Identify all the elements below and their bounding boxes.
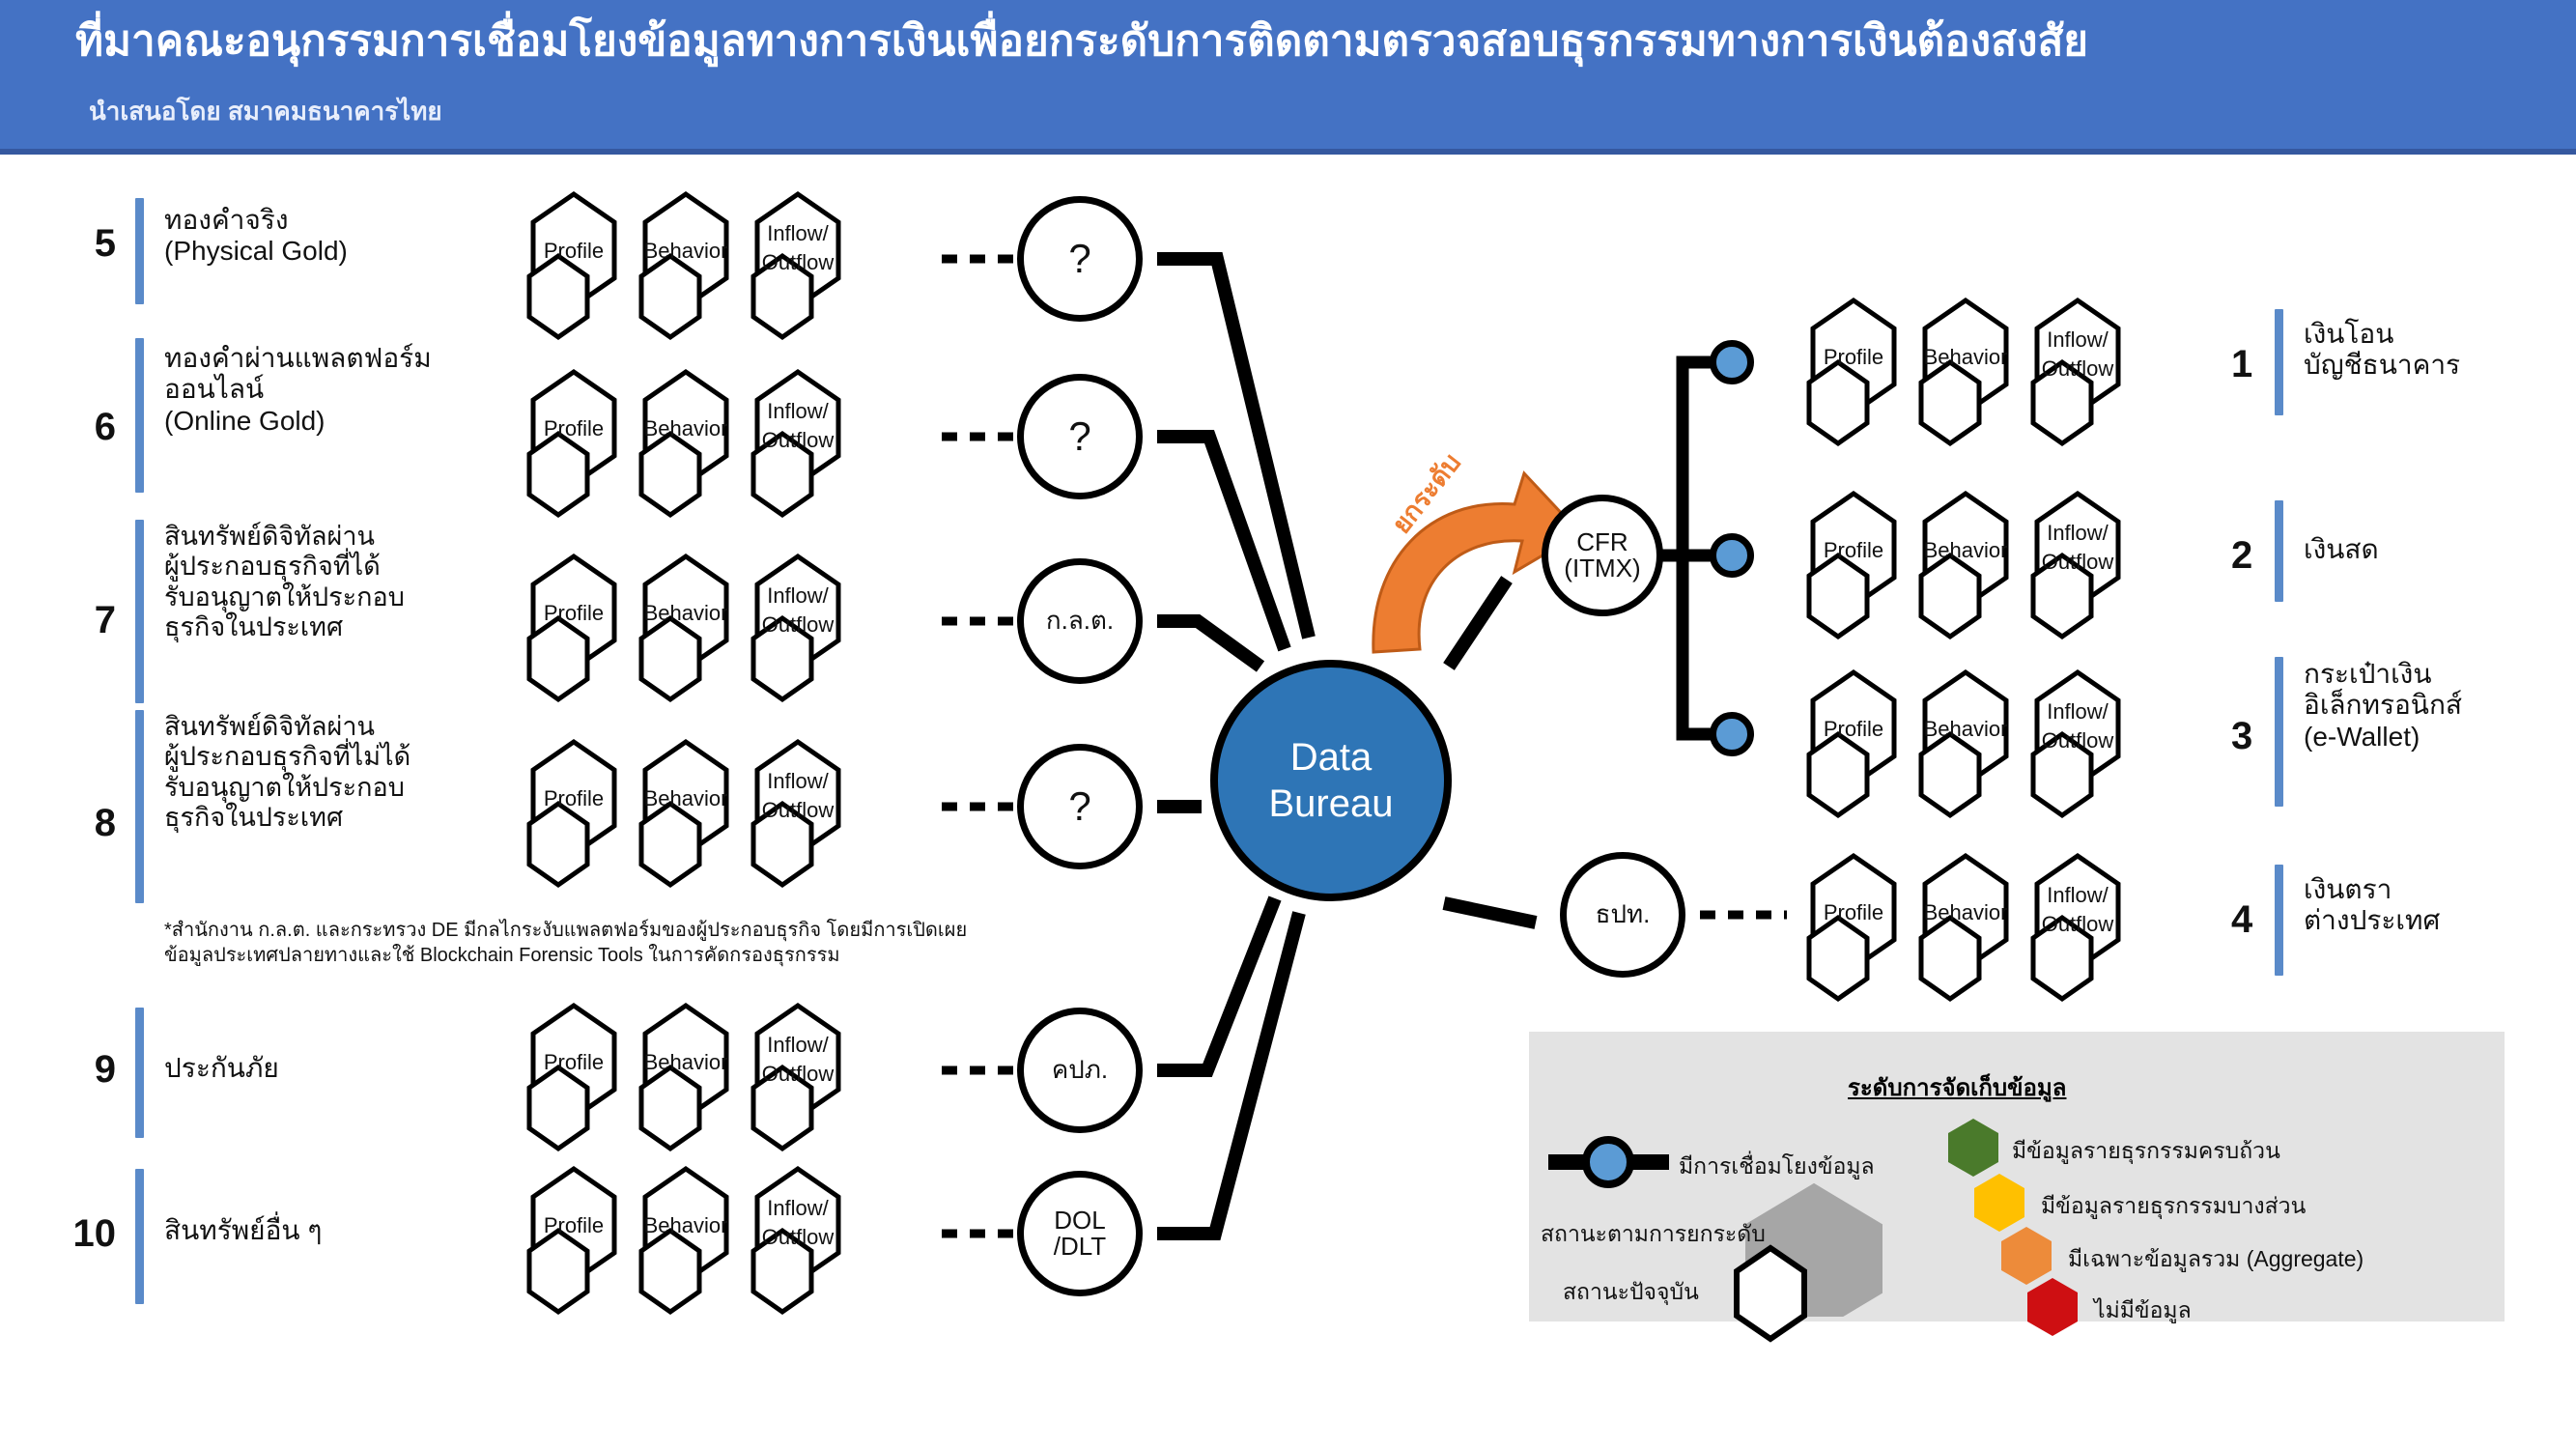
legend-current-label: สถานะปัจจุบัน bbox=[1563, 1275, 1699, 1310]
link-dot-sample-icon bbox=[1548, 1133, 1669, 1191]
left-row-accent-5 bbox=[135, 198, 144, 304]
hex-cluster-row6: Profile Behavior Inflow/ Outflow bbox=[502, 361, 947, 526]
data-bureau-label-line1: Data bbox=[1269, 734, 1394, 781]
hex-cluster-row7: Profile Behavior Inflow/ Outflow bbox=[502, 546, 947, 710]
left-row-label-5: ทองคำจริง (Physical Gold) bbox=[164, 205, 348, 268]
legend-panel: ระดับการจัดเก็บข้อมูล มีการเชื่อมโยงข้อม… bbox=[1529, 1032, 2505, 1321]
left-row-number-10: 10 bbox=[39, 1212, 116, 1256]
slide-canvas: ที่มาคณะอนุกรรมการเชื่อมโยงข้อมูลทางการเ… bbox=[0, 0, 2576, 1449]
regulator-node-row10[interactable]: DOL /DLT bbox=[1017, 1171, 1143, 1296]
footnote-line-2: ข้อมูลประเทศปลายทางและใช้ Blockchain For… bbox=[164, 943, 967, 968]
right-row-label-2: เงินสด bbox=[2304, 534, 2379, 565]
footnote-line-1: *สำนักงาน ก.ล.ต. และกระทรวง DE มีกลไกระง… bbox=[164, 918, 967, 943]
data-bureau-node[interactable]: Data Bureau bbox=[1210, 660, 1452, 901]
hex-cluster-row10: Profile Behavior Inflow/ Outflow bbox=[502, 1158, 947, 1322]
left-row-label-6: ทองคำผ่านแพลตฟอร์ม ออนไลน์ (Online Gold) bbox=[164, 343, 432, 437]
cfr-label: CFR (ITMX) bbox=[1564, 529, 1640, 582]
right-row-label-4: เงินตรา ต่างประเทศ bbox=[2304, 874, 2440, 937]
legend-level-0-icon bbox=[1944, 1117, 2002, 1179]
regulator-node-row7[interactable]: ก.ล.ต. bbox=[1017, 558, 1143, 684]
left-row-accent-9 bbox=[135, 1008, 144, 1138]
right-row-accent-3 bbox=[2275, 657, 2283, 807]
right-row-accent-4 bbox=[2275, 865, 2283, 976]
right-row-accent-1 bbox=[2275, 309, 2283, 415]
hex-cluster-row8: Profile Behavior Inflow/ Outflow bbox=[502, 731, 947, 895]
bot-node[interactable]: ธปท. bbox=[1560, 852, 1685, 978]
right-row-number-1: 1 bbox=[2231, 343, 2252, 386]
hex-cluster-row5: Profile Behavior Inflow/ Outflow bbox=[502, 184, 947, 348]
page-subtitle: นำเสนอโดย สมาคมธนาคารไทย bbox=[89, 92, 442, 131]
regulator-node-row9[interactable]: คปภ. bbox=[1017, 1008, 1143, 1133]
regulator-node-row8[interactable]: ? bbox=[1017, 744, 1143, 869]
legend-current-hex-icon bbox=[1679, 1242, 1872, 1344]
slide-header: ที่มาคณะอนุกรรมการเชื่อมโยงข้อมูลทางการเ… bbox=[0, 0, 2576, 155]
right-row-number-3: 3 bbox=[2231, 715, 2252, 758]
legend-title: ระดับการจัดเก็บข้อมูล bbox=[1848, 1068, 2066, 1106]
data-bureau-label: Data Bureau bbox=[1269, 734, 1394, 827]
left-row-accent-10 bbox=[135, 1169, 144, 1304]
header-divider bbox=[0, 149, 2576, 155]
left-row-label-10: สินทรัพย์อื่น ๆ bbox=[164, 1215, 322, 1246]
left-row-label-8: สินทรัพย์ดิจิทัลผ่าน ผู้ประกอบธุรกิจที่ไ… bbox=[164, 712, 410, 833]
link-dot-row2 bbox=[1710, 533, 1754, 578]
cfr-itmx-node[interactable]: CFR (ITMX) bbox=[1542, 495, 1663, 616]
right-row-accent-2 bbox=[2275, 500, 2283, 602]
hex-cluster-right-row2: Profile Behavior Inflow/ Outflow bbox=[1782, 483, 2226, 647]
footnote: *สำนักงาน ก.ล.ต. และกระทรวง DE มีกลไกระง… bbox=[164, 918, 967, 968]
data-bureau-label-line2: Bureau bbox=[1269, 781, 1394, 827]
hex-cluster-right-row4: Profile Behavior Inflow/ Outflow bbox=[1782, 845, 2226, 1009]
left-row-accent-7 bbox=[135, 520, 144, 703]
right-row-number-4: 4 bbox=[2231, 898, 2252, 942]
left-row-number-8: 8 bbox=[68, 802, 116, 845]
left-row-number-6: 6 bbox=[68, 406, 116, 449]
left-row-label-7: สินทรัพย์ดิจิทัลผ่าน ผู้ประกอบธุรกิจที่ไ… bbox=[164, 522, 405, 642]
cfr-label-line1: CFR bbox=[1564, 529, 1640, 555]
cfr-label-line2: (ITMX) bbox=[1564, 555, 1640, 582]
link-dot-row1 bbox=[1710, 340, 1754, 384]
hex-cluster-right-row1: Profile Behavior Inflow/ Outflow bbox=[1782, 290, 2226, 454]
left-row-number-5: 5 bbox=[68, 222, 116, 266]
legend-level-1-label: มีข้อมูลรายธุรกรรมบางส่วน bbox=[2041, 1189, 2306, 1224]
legend-level-3-icon bbox=[2024, 1276, 2081, 1338]
hex-cluster-right-row3: Profile Behavior Inflow/ Outflow bbox=[1782, 662, 2226, 826]
page-title: ที่มาคณะอนุกรรมการเชื่อมโยงข้อมูลทางการเ… bbox=[75, 19, 2088, 64]
right-row-number-2: 2 bbox=[2231, 534, 2252, 578]
hex-cluster-row9: Profile Behavior Inflow/ Outflow bbox=[502, 995, 947, 1159]
right-row-label-1: เงินโอน บัญชีธนาคาร bbox=[2304, 319, 2460, 382]
legend-level-0-label: มีข้อมูลรายธุรกรรมครบถ้วน bbox=[2012, 1134, 2280, 1169]
left-row-number-9: 9 bbox=[68, 1048, 116, 1092]
left-row-accent-8 bbox=[135, 710, 144, 903]
right-row-label-3: กระเป๋าเงิน อิเล็กทรอนิกส์ (e-Wallet) bbox=[2304, 659, 2462, 753]
legend-level-3-label: ไม่มีข้อมูล bbox=[2094, 1293, 2192, 1328]
regulator-node-row6[interactable]: ? bbox=[1017, 374, 1143, 499]
left-row-label-9: ประกันภัย bbox=[164, 1053, 279, 1084]
link-dot-row3 bbox=[1710, 712, 1754, 756]
legend-level-2-label: มีเฉพาะข้อมูลรวม (Aggregate) bbox=[2068, 1242, 2364, 1277]
regulator-node-row5[interactable]: ? bbox=[1017, 196, 1143, 322]
left-row-accent-6 bbox=[135, 338, 144, 493]
left-row-number-7: 7 bbox=[68, 599, 116, 642]
